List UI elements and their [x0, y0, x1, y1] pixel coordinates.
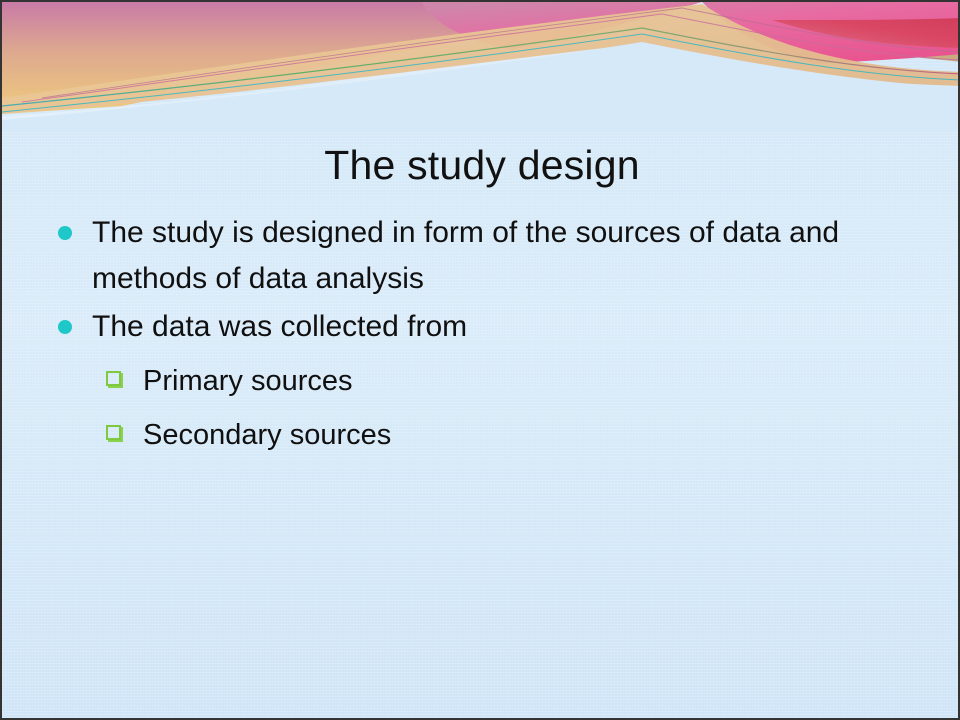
slide-content: The study design The study is designed i… — [2, 2, 958, 718]
list-item-text: The study is designed in form of the sou… — [92, 216, 714, 249]
bullet-dot-icon — [58, 226, 72, 240]
bullet-square-icon — [106, 425, 121, 440]
sub-list-item-secondary[interactable]: Secondary sources — [48, 412, 928, 458]
sub-list-item-text: Primary sources — [143, 365, 353, 397]
bullet-list: The study is designed in form of the sou… — [48, 210, 928, 458]
bullet-dot-icon — [58, 320, 72, 334]
sub-list-item-primary[interactable]: Primary sources — [48, 358, 928, 404]
list-item[interactable]: The study is designed in form of the sou… — [48, 210, 928, 302]
sub-list-item-text: Secondary sources — [143, 419, 391, 451]
list-item-text: The data was collected from — [92, 310, 467, 343]
bullet-square-icon — [106, 371, 121, 386]
slide-title: The study design — [2, 140, 960, 190]
presentation-slide: The study design The study is designed i… — [0, 0, 960, 720]
list-item[interactable]: The data was collected from — [48, 304, 928, 350]
